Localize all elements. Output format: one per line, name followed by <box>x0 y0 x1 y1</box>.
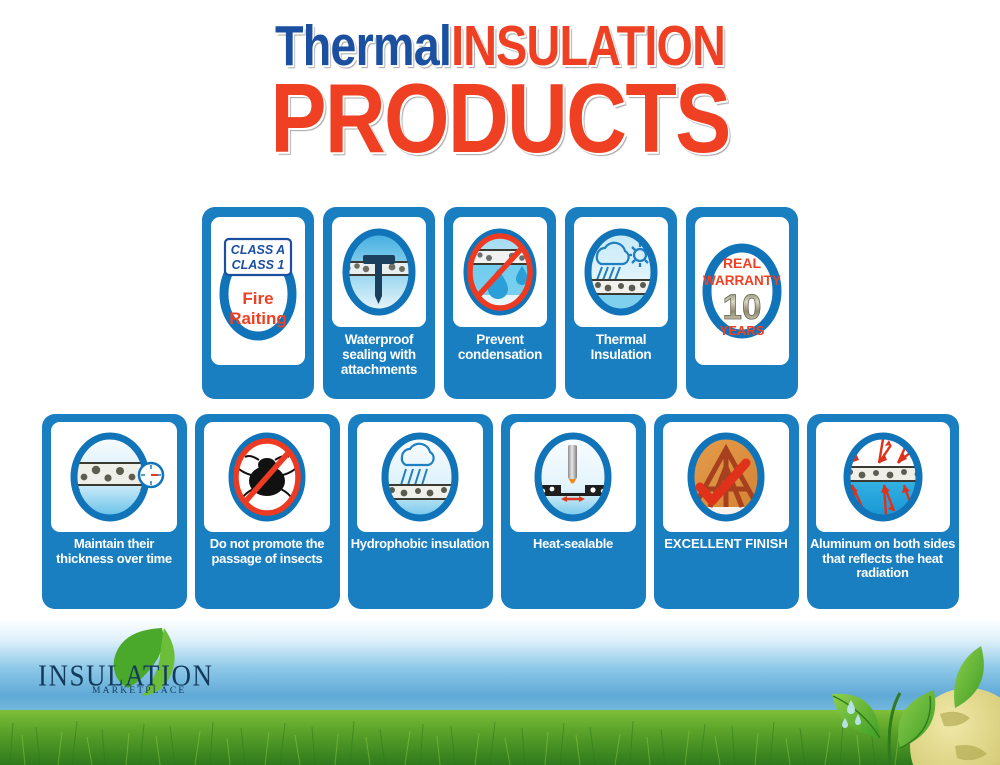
no-insect-icon <box>215 427 319 527</box>
card-caption: Do not promote the passage of insects <box>195 532 340 566</box>
svg-text:Raiting: Raiting <box>229 309 287 328</box>
warranty-seal-icon: REAL WARRANTY 10 YEARS <box>698 220 786 362</box>
icon-plate <box>816 422 950 532</box>
feature-card-maintain-thickness[interactable]: Maintain their thickness over time <box>42 414 187 609</box>
card-caption: Thermal Insulation <box>565 327 677 362</box>
footer-landscape-banner: INSULATION MARKETPLACE <box>0 618 1000 765</box>
card-caption: Waterproof sealing with attachments <box>323 327 435 377</box>
icon-plate <box>510 422 636 532</box>
feature-row-two: Maintain their thickness over time <box>0 414 1000 609</box>
reflective-arrows-icon <box>828 427 938 527</box>
feature-card-waterproof-sealing[interactable]: Waterproof sealing with attachments <box>323 207 435 399</box>
svg-text:Fire: Fire <box>242 289 273 308</box>
feature-card-aluminum-reflects[interactable]: Aluminum on both sides that reflects the… <box>807 414 959 609</box>
feature-card-fire-rating[interactable]: CLASS A CLASS 1 Fire Raiting <box>202 207 314 399</box>
icon-plate <box>51 422 177 532</box>
fire-rating-badge-icon: CLASS A CLASS 1 Fire Raiting <box>214 220 302 362</box>
poster-canvas: ThermalINSULATION PRODUCTS CLASS A CLASS… <box>0 0 1000 765</box>
sun-and-rain-cloud-icon <box>575 222 667 322</box>
icon-plate <box>574 217 668 327</box>
icon-plate: REAL WARRANTY 10 YEARS <box>695 217 789 365</box>
brand-logo[interactable]: INSULATION MARKETPLACE <box>32 632 232 702</box>
card-caption: Hydrophobic insulation <box>348 532 493 552</box>
feature-card-excellent-finish[interactable]: EXCELLENT FINISH <box>654 414 799 609</box>
card-caption: Prevent condensation <box>444 327 556 362</box>
roof-checkmark-icon <box>674 427 778 527</box>
rain-cloud-over-layer-icon <box>368 427 472 527</box>
svg-text:REAL: REAL <box>723 255 762 271</box>
feature-card-thermal-insulation[interactable]: Thermal Insulation <box>565 207 677 399</box>
icon-plate <box>357 422 483 532</box>
icon-plate: CLASS A CLASS 1 Fire Raiting <box>211 217 305 365</box>
feature-card-no-insects[interactable]: Do not promote the passage of insects <box>195 414 340 609</box>
logo-tagline: MARKETPLACE <box>92 686 186 696</box>
page-title: ThermalINSULATION PRODUCTS <box>0 18 1000 167</box>
feature-card-heat-sealable[interactable]: Heat-sealable <box>501 414 646 609</box>
feature-card-warranty[interactable]: REAL WARRANTY 10 YEARS <box>686 207 798 399</box>
icon-plate <box>204 422 330 532</box>
svg-text:CLASS A: CLASS A <box>231 243 285 257</box>
svg-text:YEARS: YEARS <box>720 323 765 338</box>
thickness-gauge-icon <box>58 427 170 527</box>
icon-plate <box>663 422 789 532</box>
card-caption: Maintain their thickness over time <box>42 532 187 566</box>
svg-text:10: 10 <box>723 288 762 327</box>
feature-row-one: CLASS A CLASS 1 Fire Raiting <box>0 207 1000 399</box>
icon-plate <box>332 217 426 327</box>
feature-card-hydrophobic[interactable]: Hydrophobic insulation <box>348 414 493 609</box>
icon-plate <box>453 217 547 327</box>
title-products: PRODUCTS <box>70 69 930 167</box>
svg-text:WARRANTY: WARRANTY <box>703 273 781 288</box>
card-caption: Aluminum on both sides that reflects the… <box>807 532 959 581</box>
card-caption: EXCELLENT FINISH <box>661 532 791 552</box>
heat-gun-sealing-icon <box>521 427 625 527</box>
svg-text:CLASS 1: CLASS 1 <box>232 258 285 272</box>
membrane-fastener-icon <box>333 222 425 322</box>
no-water-droplets-icon <box>454 222 546 322</box>
card-caption: Heat-sealable <box>530 532 616 552</box>
feature-card-prevent-condensation[interactable]: Prevent condensation <box>444 207 556 399</box>
